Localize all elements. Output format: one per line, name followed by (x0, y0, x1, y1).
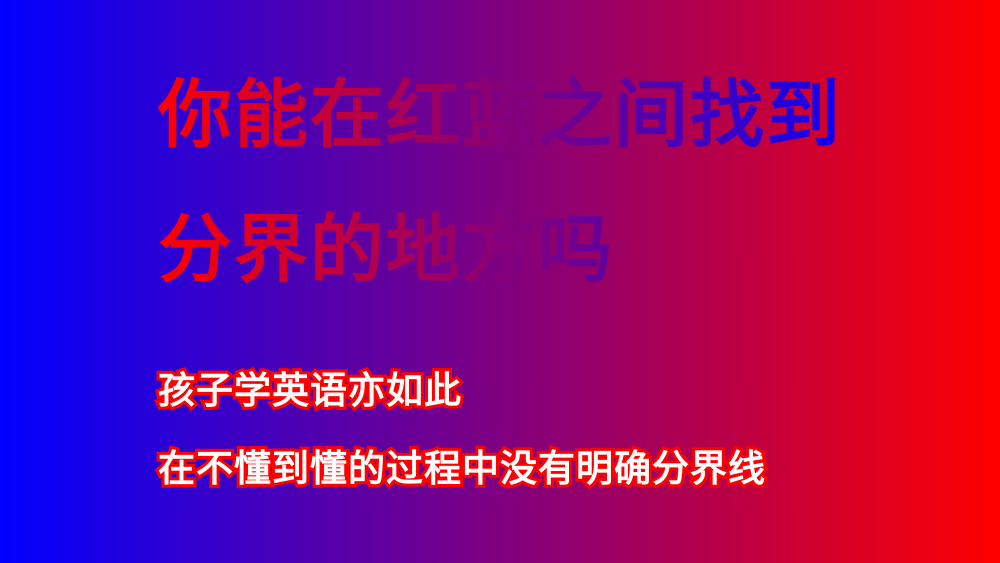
title-line-1: 你能在红蓝之间找到 (158, 48, 888, 183)
subtitle-line-1-fill: 孩子学英语亦如此 (158, 369, 462, 412)
subtitle-block: 孩子学英语亦如此 孩子学英语亦如此 在不懂到懂的过程中没有明确分界线 在不懂到懂… (158, 352, 888, 508)
subtitle-line-2-fill: 在不懂到懂的过程中没有明确分界线 (158, 447, 766, 490)
title-line-2: 分界的地方吗 (158, 183, 888, 318)
subtitle-line-1: 孩子学英语亦如此 孩子学英语亦如此 (158, 352, 888, 430)
slide-canvas: 你能在红蓝之间找到 分界的地方吗 孩子学英语亦如此 孩子学英语亦如此 在不懂到懂… (0, 0, 1000, 563)
title-block: 你能在红蓝之间找到 分界的地方吗 (158, 48, 888, 318)
subtitle-line-2: 在不懂到懂的过程中没有明确分界线 在不懂到懂的过程中没有明确分界线 (158, 430, 888, 508)
